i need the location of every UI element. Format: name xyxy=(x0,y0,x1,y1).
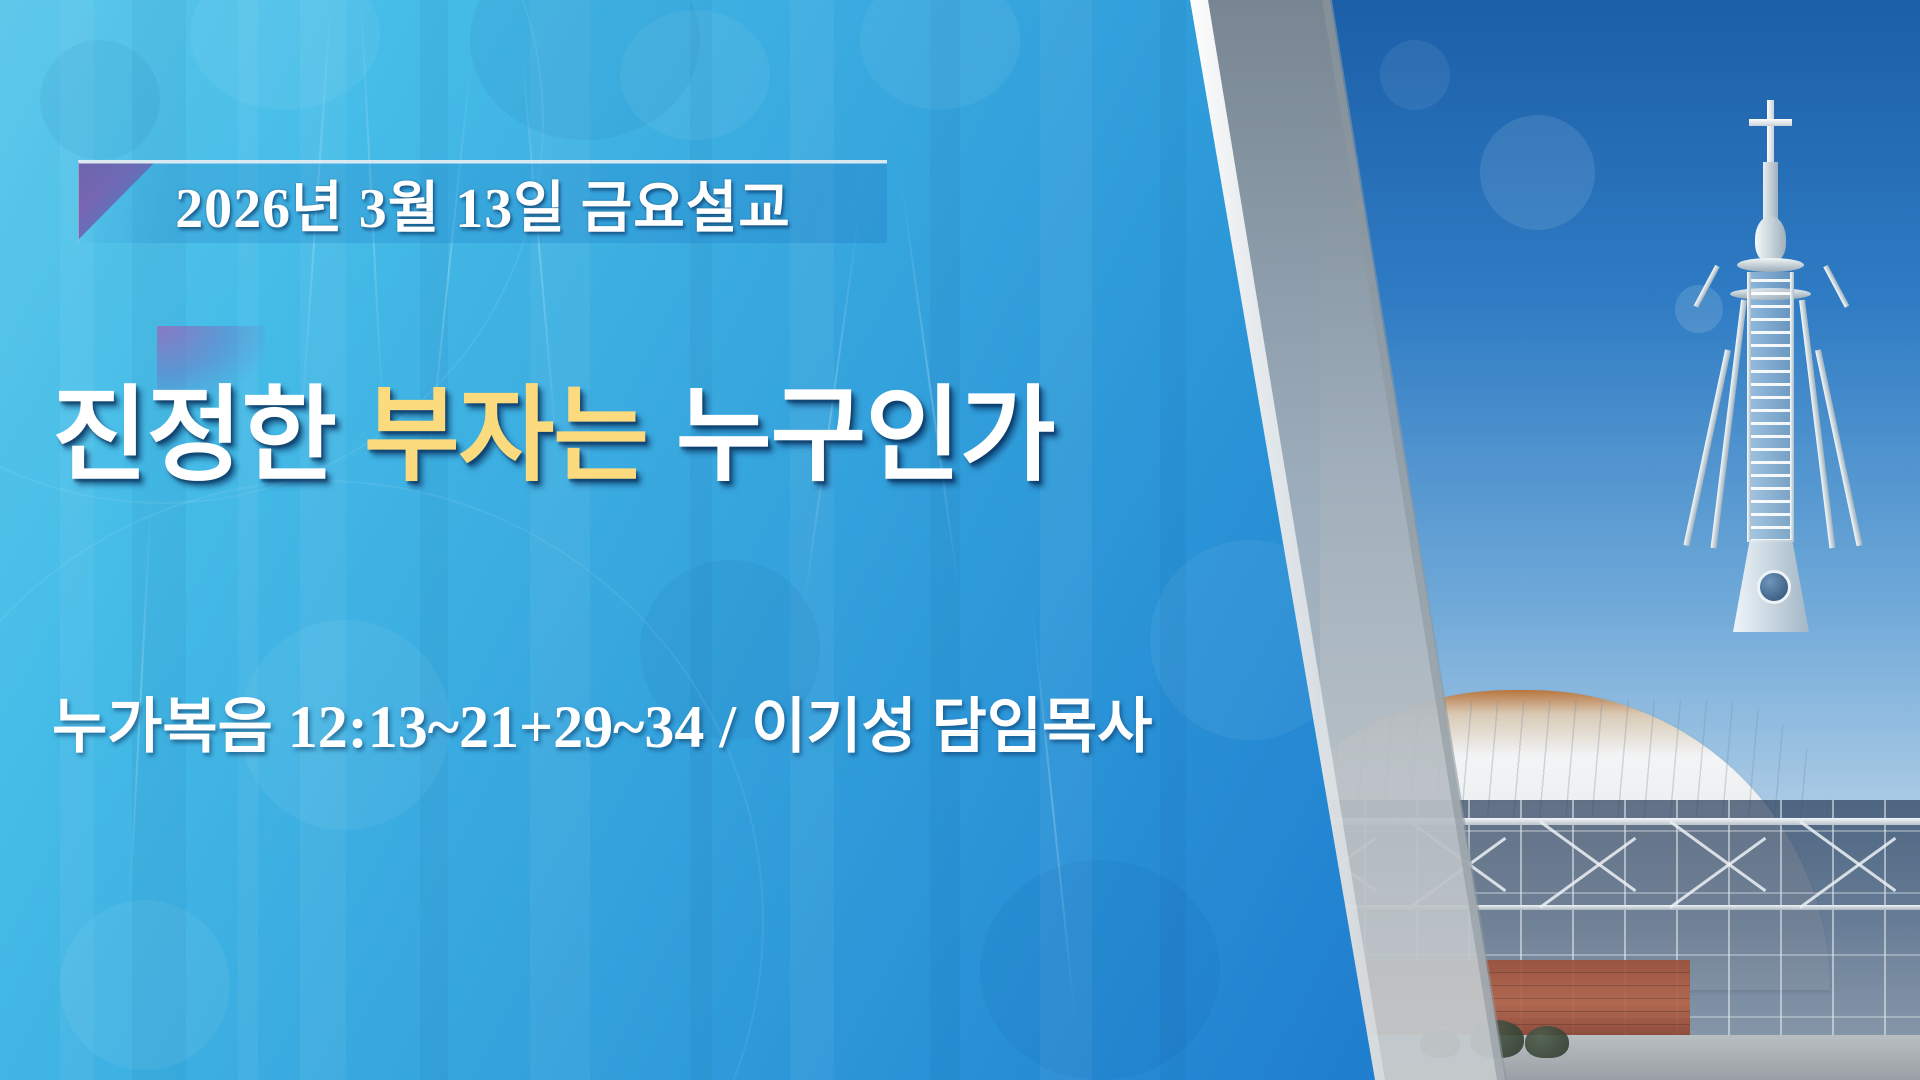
steeple-leg xyxy=(1711,300,1747,549)
church-photo xyxy=(1320,0,1920,1080)
spire-arm xyxy=(1823,265,1849,308)
shrub xyxy=(1420,1030,1460,1058)
cross-icon xyxy=(1749,119,1792,126)
shrub xyxy=(1525,1026,1569,1058)
sermon-title-slide: 2026년 3월 13일 금요설교 진정한 부자는 누구인가 누가복음 12:1… xyxy=(0,0,1920,1080)
sermon-title: 진정한 부자는 누구인가 xyxy=(52,378,1112,494)
steeple-lattice-tower xyxy=(1747,272,1794,542)
spire-ring xyxy=(1737,258,1804,272)
shrub xyxy=(1470,1020,1524,1058)
lens-flare-icon xyxy=(1380,40,1450,110)
bg-bubble xyxy=(620,10,770,140)
title-part-highlight: 부자는 xyxy=(364,378,676,494)
spire-arm xyxy=(1694,265,1720,308)
lens-flare-icon xyxy=(1480,115,1595,230)
bg-bubble xyxy=(860,0,1020,110)
bg-arc xyxy=(0,480,764,1080)
scripture-and-speaker-line: 누가복음 12:13~21+29~34 / 이기성 담임목사 xyxy=(52,678,1172,765)
spire-bulb xyxy=(1755,216,1786,262)
cross-icon xyxy=(1767,100,1774,162)
bg-stripe xyxy=(930,0,960,1080)
title-part-3: 누구인가 xyxy=(676,378,1055,494)
steeple-round-window xyxy=(1757,570,1791,604)
spire-shaft xyxy=(1763,162,1778,220)
date-banner: 2026년 3월 13일 금요설교 xyxy=(78,160,887,243)
title-part-1: 진정한 xyxy=(52,378,364,494)
date-banner-text: 2026년 3월 13일 금요설교 xyxy=(175,163,791,244)
plaza-ground xyxy=(1320,1035,1920,1080)
bg-bubble xyxy=(980,860,1220,1080)
church-steeple xyxy=(1675,100,1865,740)
